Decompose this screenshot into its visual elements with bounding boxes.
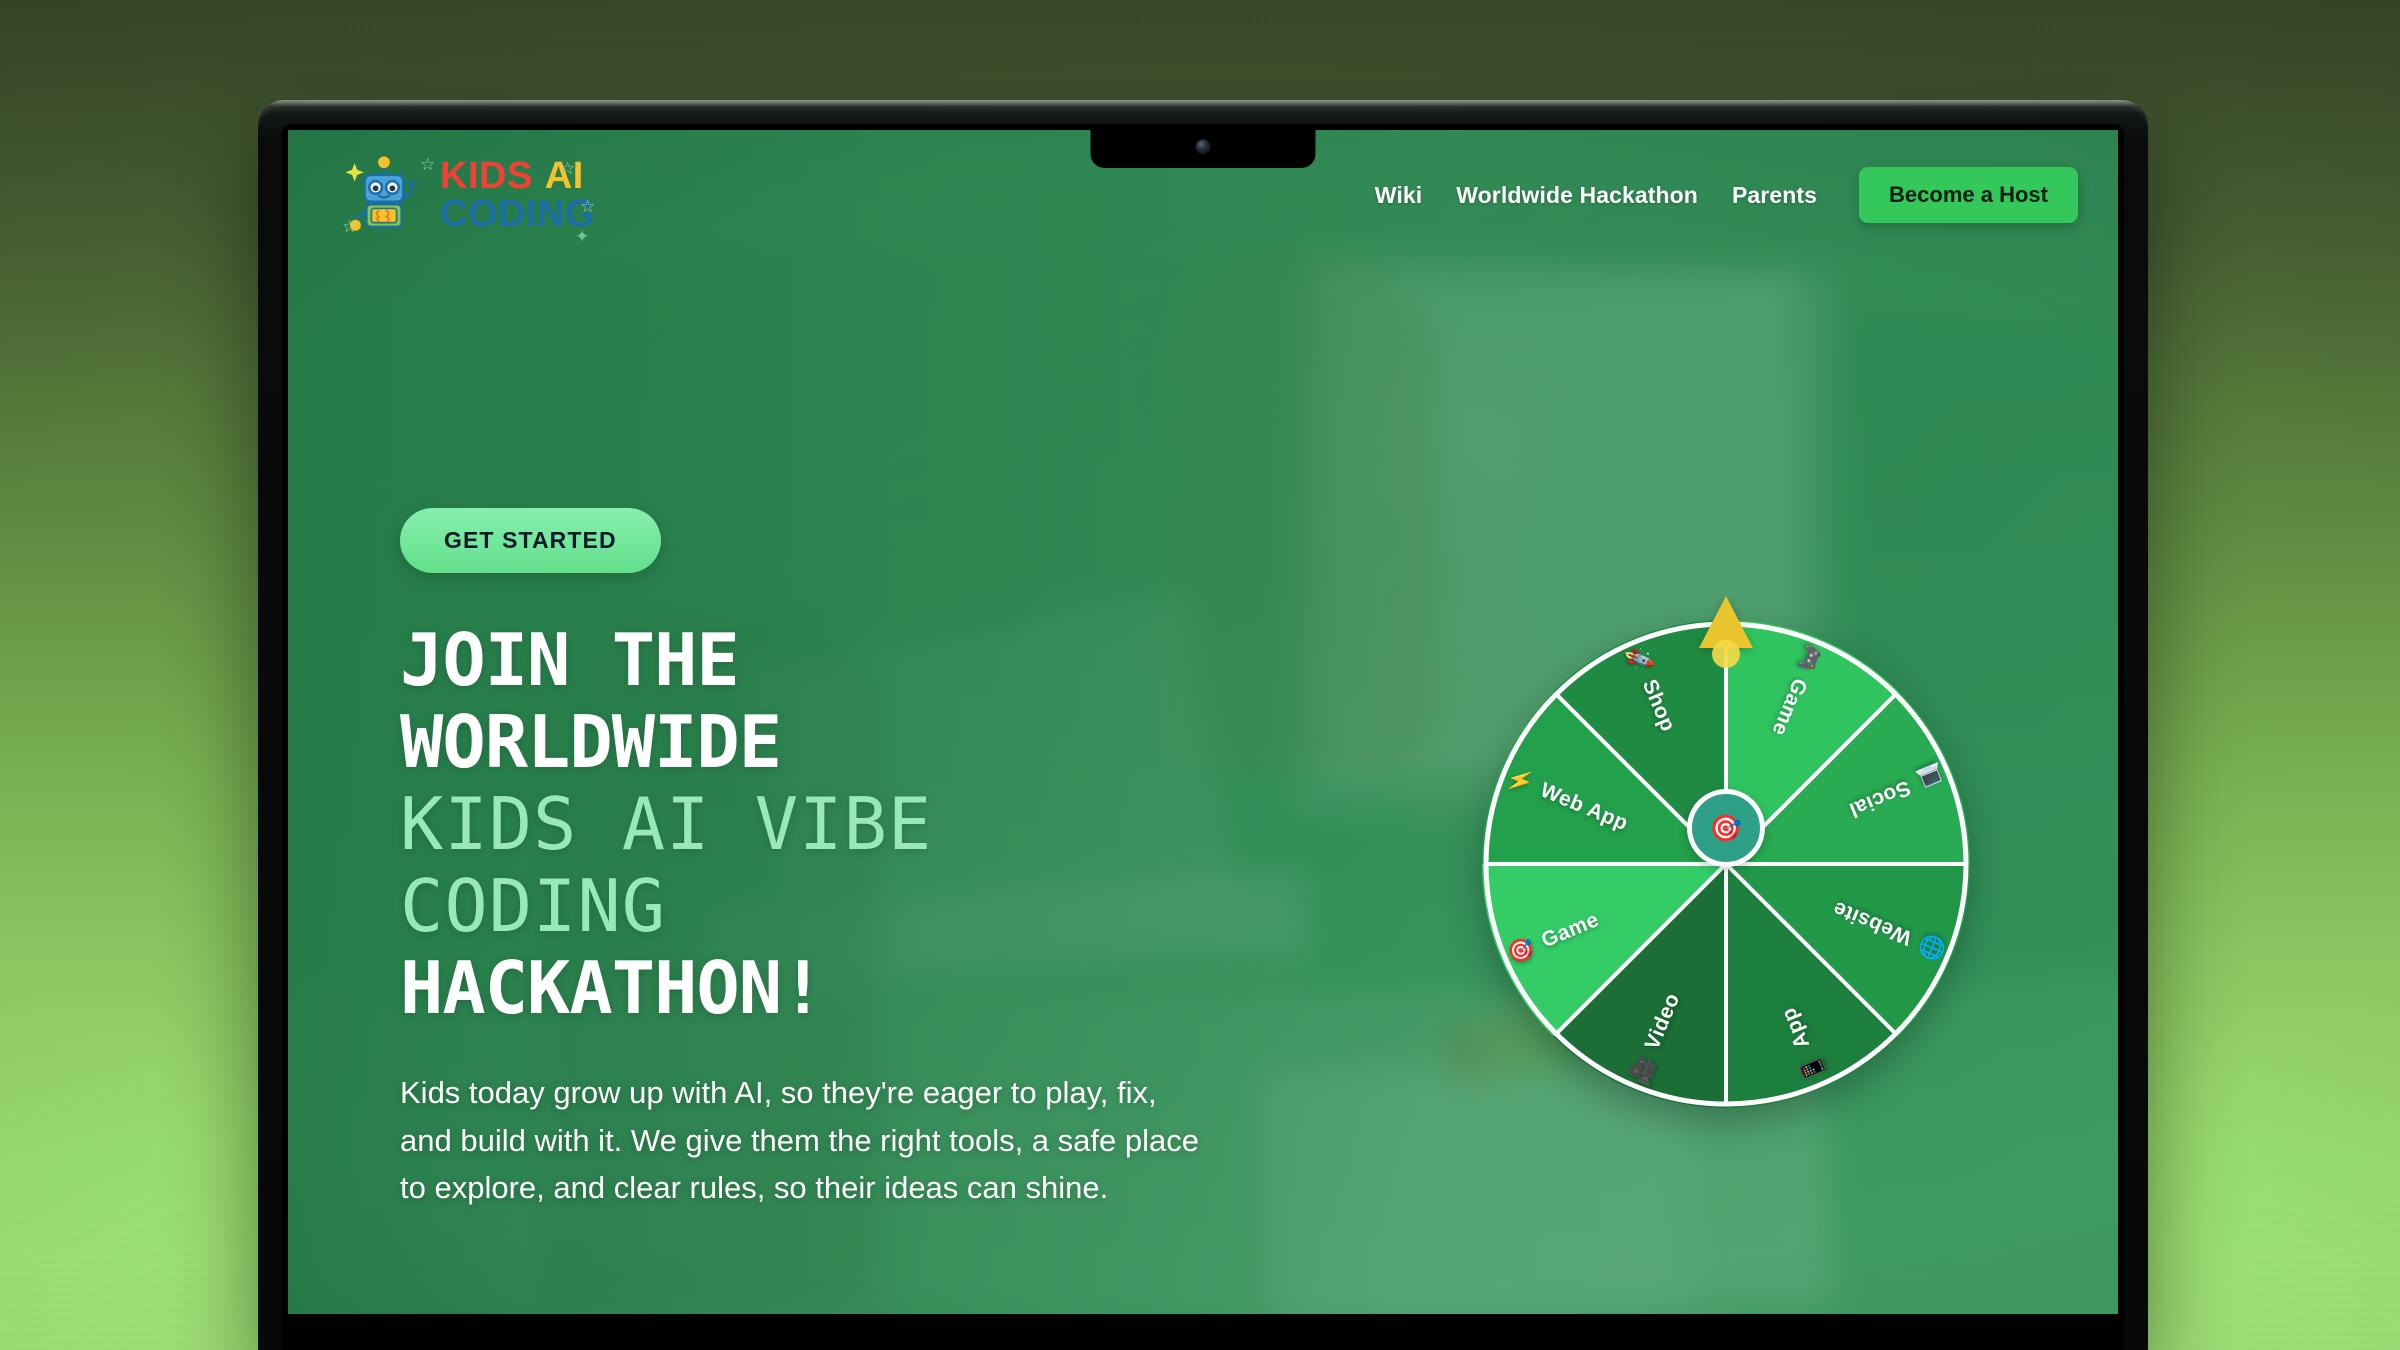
hero-heading-line-1: JOIN THE	[400, 619, 1300, 701]
logo-text-coding: CODING	[440, 197, 595, 232]
wheel-center-hub[interactable]: 🎯	[1687, 789, 1765, 867]
main-navigation: Wiki Worldwide Hackathon Parents Become …	[1375, 167, 2078, 223]
laptop-device-frame: KIDSAI CODING ☆ ☆ ☆ ☆ ✦ Wiki Worldwide H…	[258, 100, 2148, 1350]
site-logo[interactable]: KIDSAI CODING ☆ ☆ ☆ ☆ ✦	[342, 153, 595, 237]
hero-heading-line-2: WORLDWIDE	[400, 701, 1300, 783]
hero-heading-line-4: CODING	[400, 865, 1300, 947]
wheel-pointer-icon	[1699, 596, 1753, 648]
logo-text-kids: KIDS	[440, 155, 533, 197]
nav-link-worldwide-hackathon[interactable]: Worldwide Hackathon	[1456, 182, 1698, 209]
become-a-host-button[interactable]: Become a Host	[1859, 167, 2078, 223]
sparkle-star-icon: ☆	[420, 155, 435, 175]
webcam-icon	[1197, 140, 1210, 153]
nav-link-parents[interactable]: Parents	[1732, 182, 1817, 209]
laptop-bezel: KIDSAI CODING ☆ ☆ ☆ ☆ ✦ Wiki Worldwide H…	[282, 124, 2124, 1350]
hero-copy-block: GET STARTED JOIN THE WORLDWIDE KIDS AI V…	[400, 508, 1300, 1211]
sparkle-star-icon: ☆	[560, 159, 575, 179]
laptop-notch	[1091, 124, 1316, 168]
spin-wheel-widget[interactable]: 🎯 🎮Game💻Social🌐Website📱App🎥Video🎯Game⚡We…	[1466, 558, 1986, 1098]
hero-heading-line-3: KIDS AI VIBE	[400, 783, 1300, 865]
sparkle-star-icon: ☆	[580, 197, 595, 217]
hero-heading: JOIN THE WORLDWIDE KIDS AI VIBE CODING H…	[400, 619, 1300, 1029]
sparkle-star-icon: ✦	[575, 227, 589, 247]
sparkle-star-icon: ☆	[342, 217, 357, 237]
nav-link-wiki[interactable]: Wiki	[1375, 182, 1422, 209]
hero-paragraph: Kids today grow up with AI, so they're e…	[400, 1069, 1200, 1210]
get-started-button[interactable]: GET STARTED	[400, 508, 661, 573]
hero-heading-line-5: HACKATHON!	[400, 947, 1300, 1029]
hero-section: GET STARTED JOIN THE WORLDWIDE KIDS AI V…	[288, 130, 2118, 1314]
browser-viewport: KIDSAI CODING ☆ ☆ ☆ ☆ ✦ Wiki Worldwide H…	[288, 130, 2118, 1314]
